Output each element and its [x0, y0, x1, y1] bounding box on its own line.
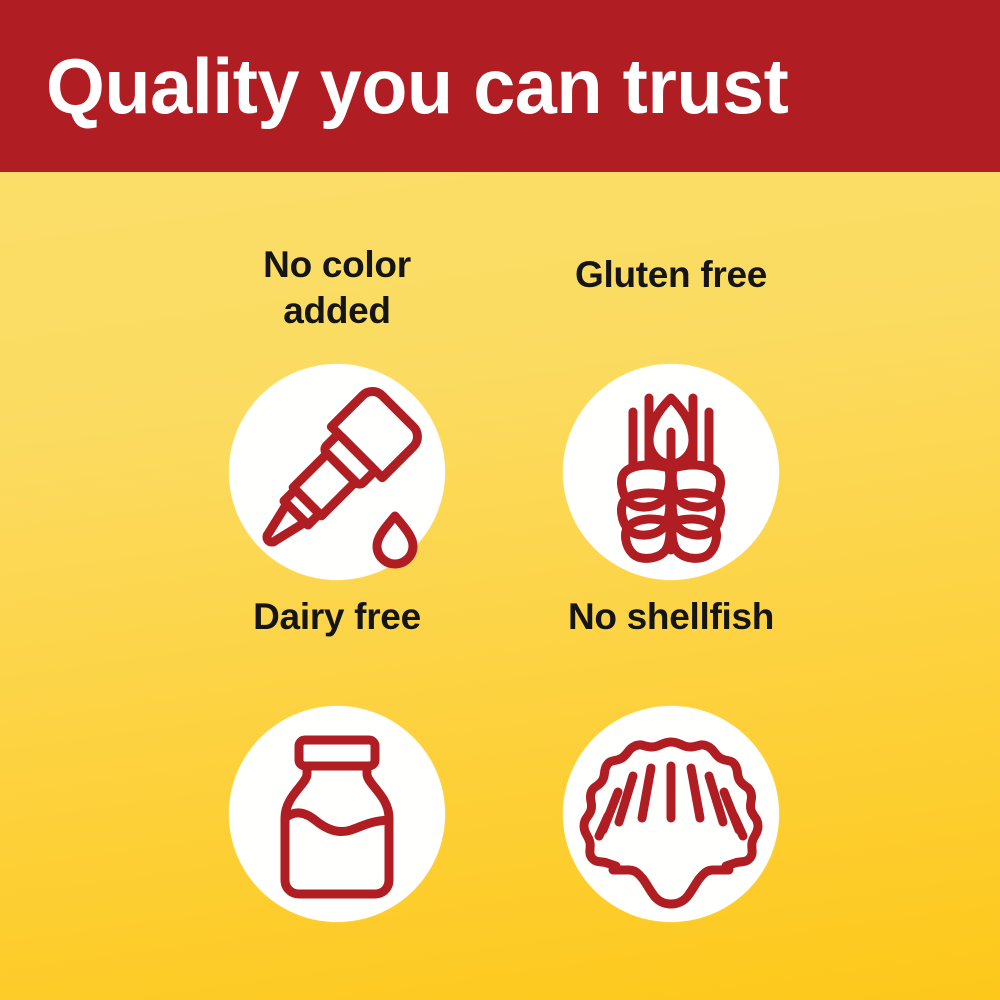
feature-label: Dairy free	[187, 594, 487, 640]
scallop-shell-icon	[563, 706, 779, 922]
icon-circle	[563, 364, 779, 580]
feature-no-shellfish: No shellfish	[521, 584, 821, 984]
feature-label-line-1: No color	[263, 244, 411, 285]
feature-gluten-free: Gluten free	[521, 242, 821, 642]
feature-label: No coloradded	[187, 242, 487, 334]
feature-label: Gluten free	[521, 252, 821, 298]
milk-bottle-icon	[229, 706, 445, 922]
feature-dairy-free: Dairy free	[187, 584, 487, 984]
quality-badges-panel: Quality you can trust No coloradded	[0, 0, 1000, 1000]
feature-label: No shellfish	[521, 594, 821, 640]
feature-grid: No coloradded	[0, 172, 1000, 1000]
wheat-icon	[563, 364, 779, 580]
dropper-icon	[229, 364, 445, 580]
icon-circle	[563, 706, 779, 922]
feature-no-color-added: No coloradded	[187, 242, 487, 642]
header-band: Quality you can trust	[0, 0, 1000, 172]
icon-circle	[229, 706, 445, 922]
icon-circle	[229, 364, 445, 580]
feature-label-line-2: added	[283, 290, 390, 331]
page-title: Quality you can trust	[46, 36, 948, 136]
